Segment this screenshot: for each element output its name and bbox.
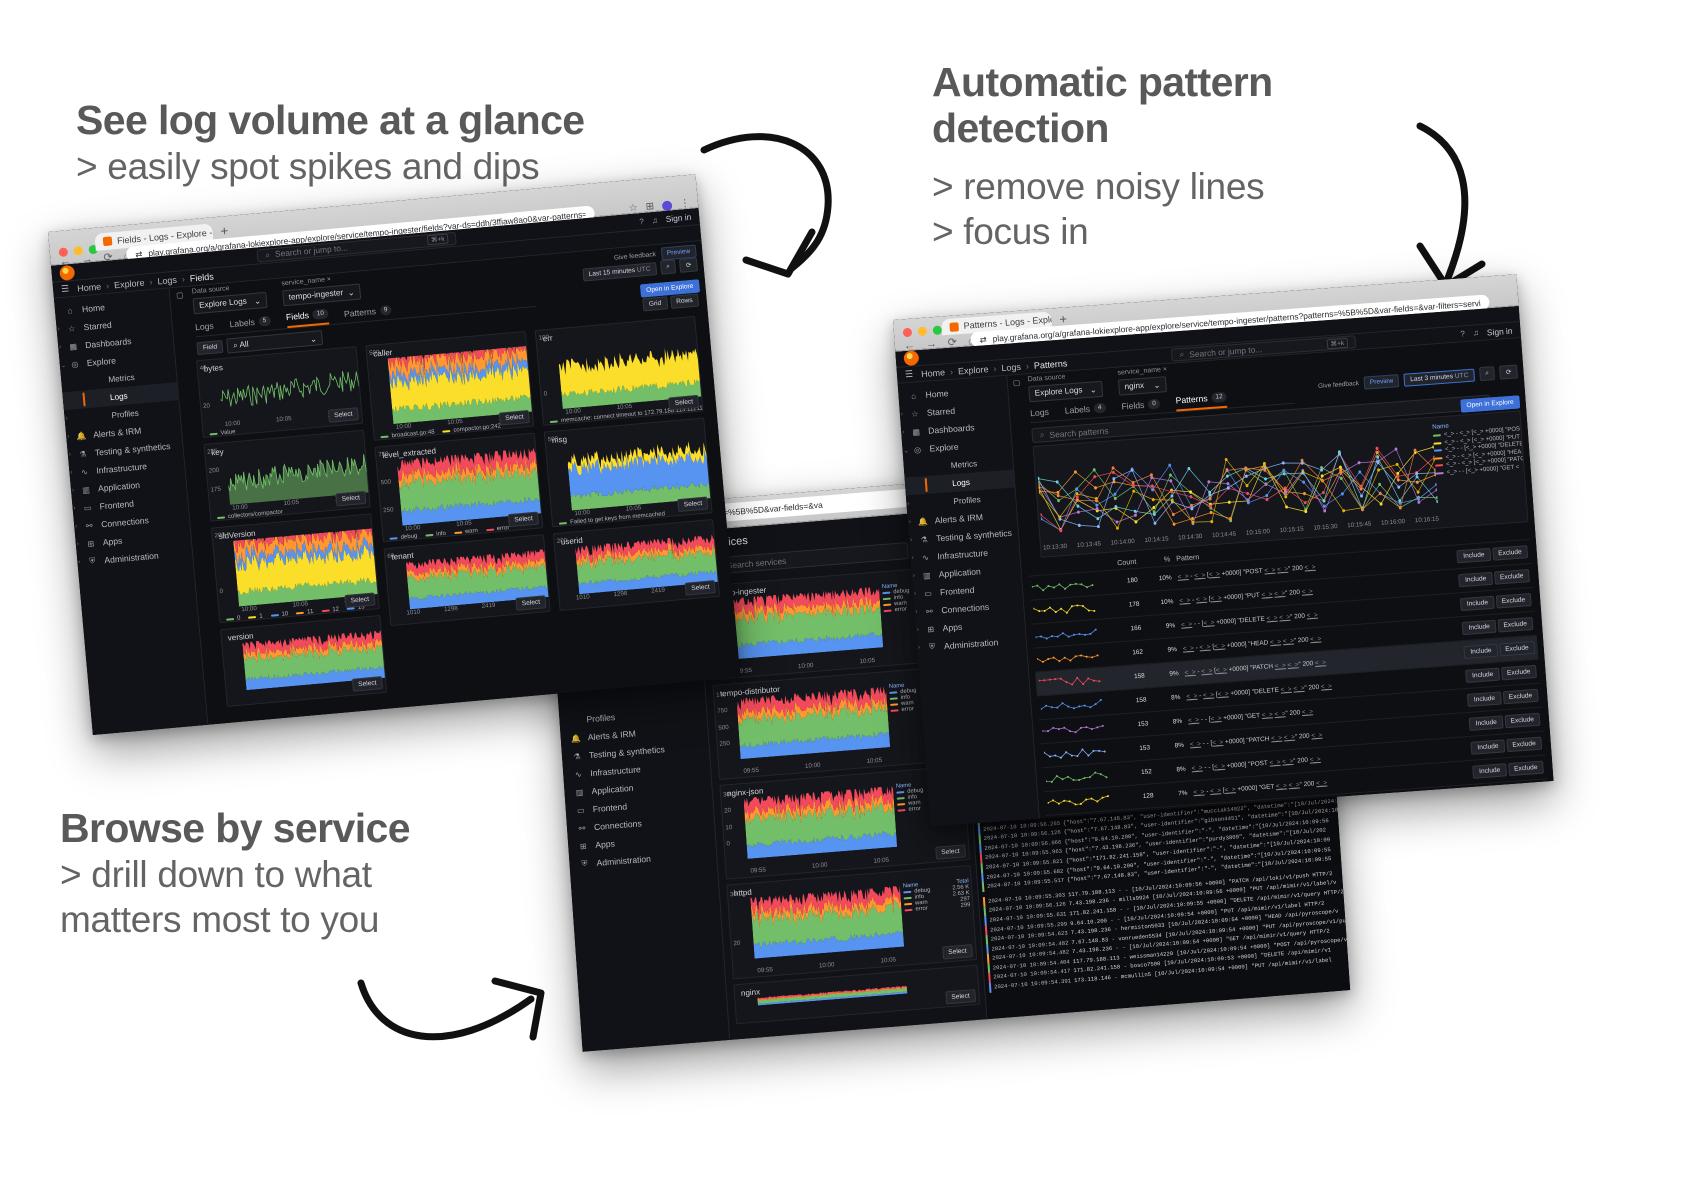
legend-swatch: [486, 529, 494, 532]
x-axis-tick: 2419: [481, 602, 495, 610]
sidebar-item-label: Home: [925, 388, 949, 400]
chevron-icon[interactable]: ⌄: [61, 361, 67, 368]
log-level-bar: [987, 954, 990, 964]
grafana-logo[interactable]: [903, 350, 919, 366]
row-count: 153: [1116, 712, 1152, 738]
sidebar-item-label: Frontend: [940, 585, 975, 597]
legend-swatch: [897, 797, 905, 800]
legend-label: warn: [465, 528, 478, 535]
legend-label: 12: [332, 607, 339, 614]
y-axis-tick: 20: [724, 807, 731, 815]
sidebar-item-label: Apps: [102, 536, 122, 548]
sidebar-item-label: Frontend: [592, 801, 627, 814]
exclude-button[interactable]: Exclude: [1506, 737, 1542, 753]
x-axis-tick: 10:13:30: [1043, 543, 1068, 556]
sidebar-item-label: Connections: [594, 818, 642, 832]
chevron-icon[interactable]: ›: [913, 573, 915, 579]
x-axis-tick: 10:15:45: [1347, 521, 1372, 534]
exclude-button[interactable]: Exclude: [1502, 689, 1538, 705]
legend-item[interactable]: 0: [226, 615, 241, 622]
x-axis-tick: 09:55: [750, 866, 766, 874]
time-range-picker[interactable]: Last 3 minutes UTC: [1404, 368, 1475, 386]
rows-view-toggle[interactable]: Rows: [670, 293, 700, 308]
chevron-down-icon: ⌄: [1153, 379, 1161, 389]
legend-swatch: [1435, 457, 1443, 460]
star-icon: ☆: [66, 323, 77, 334]
help-icon[interactable]: ?: [1460, 329, 1465, 338]
log-level-bar: [988, 964, 991, 974]
y-axis-tick: 750: [717, 707, 728, 715]
y-axis-tick: 0: [219, 588, 223, 595]
tab-logs[interactable]: Logs: [1030, 407, 1050, 422]
x-axis-tick: 10:00: [812, 861, 828, 869]
sidebar-item-label: Apps: [942, 622, 962, 633]
service-name-select[interactable]: tempo-ingester ⌄: [282, 283, 361, 306]
include-button[interactable]: Include: [1471, 739, 1505, 754]
sidebar-nav-list[interactable]: ⌂Home ›☆Starred ›▦Dashboards ⌄◎Explore M…: [898, 380, 1026, 657]
row-actions[interactable]: Include Exclude: [1473, 803, 1548, 816]
chevron-icon[interactable]: ›: [901, 412, 903, 418]
row-actions[interactable]: Include Exclude: [1471, 779, 1547, 809]
legend-item[interactable]: warn: [454, 528, 478, 536]
flask-icon: ⚗: [77, 448, 88, 459]
give-feedback-link[interactable]: Give feedback: [1318, 380, 1359, 390]
breadcrumb-item[interactable]: Explore: [958, 364, 989, 376]
breadcrumb-item[interactable]: Fields: [189, 271, 214, 283]
select-button[interactable]: Select: [499, 410, 530, 426]
log-level-bar: [985, 935, 988, 945]
chevron-icon[interactable]: ›: [57, 326, 60, 332]
callout-headline: See log volume at a glance: [76, 98, 584, 144]
legend-label: error: [915, 906, 928, 913]
zoom-out-icon[interactable]: ⌕: [660, 259, 677, 274]
exclude-button[interactable]: Exclude: [1511, 808, 1547, 816]
chevron-icon[interactable]: ›: [77, 542, 80, 548]
include-button[interactable]: Include: [1466, 668, 1500, 683]
exclude-button[interactable]: Exclude: [1492, 545, 1528, 561]
row-percent: 9%: [1145, 637, 1181, 663]
x-axis-tick: 10:05: [292, 600, 308, 608]
breadcrumb-item[interactable]: Logs: [157, 274, 177, 286]
panel-xaxis: 09:5510:0010:05: [757, 956, 896, 974]
exclude-button[interactable]: Exclude: [1508, 761, 1544, 777]
tab-count: 12: [1211, 392, 1227, 403]
row-percent: 8%: [1154, 757, 1190, 783]
bullet-icon: [935, 479, 946, 490]
sidebar-item-label: Alerts & IRM: [93, 426, 142, 440]
x-axis-tick: 10:15:00: [1246, 528, 1271, 541]
tab-logs[interactable]: Logs: [195, 321, 215, 337]
chevron-icon[interactable]: ›: [907, 501, 909, 507]
exclude-button[interactable]: Exclude: [1509, 785, 1545, 801]
x-axis-tick: 10:05: [873, 857, 889, 865]
search-shortcut-hint: ⌘+k: [427, 233, 450, 245]
select-button[interactable]: Select: [515, 595, 546, 611]
legend-label: 10: [281, 611, 288, 618]
bell-icon: 🔔: [570, 733, 581, 744]
stacked-area-chart: [729, 586, 883, 659]
exclude-button[interactable]: Exclude: [1501, 665, 1537, 681]
sidebar-item-label: Dashboards: [928, 422, 975, 435]
chevron-icon[interactable]: ›: [78, 559, 81, 565]
exclude-button[interactable]: Exclude: [1495, 593, 1531, 609]
datasource-select[interactable]: Explore Logs ⌄: [1028, 380, 1103, 401]
patterns-table-wrap[interactable]: Count%Pattern 180 10% <_> - <_> [<_> +00…: [1027, 526, 1547, 816]
sidebar-item-label: Profiles: [111, 408, 139, 419]
tab-label: Fields: [286, 310, 310, 322]
x-axis-tick: 10:00: [565, 407, 581, 415]
legend-label: error: [496, 525, 509, 532]
new-tab-button[interactable]: +: [220, 223, 229, 239]
sidebar-item-label: Testing & synthetics: [936, 528, 1012, 544]
x-axis-tick: 09:55: [743, 767, 759, 775]
breadcrumb-item[interactable]: Patterns: [1033, 358, 1067, 370]
hamburger-menu-icon[interactable]: ☰: [61, 283, 70, 295]
callout-subline: > drill down to what: [60, 852, 410, 897]
include-button[interactable]: Include: [1476, 811, 1510, 816]
legend-swatch: [442, 430, 450, 433]
sidebar-item-label: Alerts & IRM: [934, 512, 983, 526]
x-axis-tick: 10:16:15: [1415, 516, 1440, 529]
exclude-button[interactable]: Exclude: [1504, 713, 1540, 729]
sidebar-item-label: Starred: [927, 406, 956, 418]
include-button[interactable]: Include: [1464, 644, 1498, 659]
close-icon[interactable]: [903, 328, 913, 338]
legend-item[interactable]: 10: [270, 611, 288, 619]
legend-swatch: [905, 909, 913, 912]
callout-browse-by-service: Browse by service > drill down to what m…: [60, 806, 410, 942]
include-button[interactable]: Include: [1459, 572, 1493, 587]
legend-item[interactable]: 1: [248, 613, 263, 620]
select-button[interactable]: Select: [328, 407, 359, 423]
remove-filter-icon[interactable]: ×: [1163, 366, 1168, 373]
bullet-icon: [94, 411, 105, 422]
x-axis-tick: 10:05: [276, 415, 292, 423]
service-name-label: service_name ×: [1117, 366, 1167, 377]
news-icon[interactable]: ♫: [651, 215, 658, 224]
include-button[interactable]: Include: [1469, 715, 1503, 730]
datasource-value: Explore Logs: [199, 297, 247, 310]
log-level-bar: [984, 916, 987, 926]
legend-label: flush.go:253: [392, 440, 425, 441]
sidebar-item-label: Apps: [595, 838, 615, 850]
field-panel-version: version Select: [220, 615, 387, 707]
legend-item[interactable]: flush.go:253: [381, 440, 425, 441]
breadcrumb-separator: ›: [106, 280, 110, 290]
give-feedback-link[interactable]: Give feedback: [614, 251, 657, 262]
include-button[interactable]: Include: [1474, 787, 1508, 802]
home-icon: ⌂: [65, 305, 76, 316]
include-button[interactable]: Include: [1457, 548, 1491, 563]
chevron-icon[interactable]: ›: [73, 506, 76, 512]
legend-label: Value: [220, 429, 235, 436]
help-icon[interactable]: ?: [639, 217, 644, 226]
chevron-icon[interactable]: ›: [917, 627, 919, 633]
tab-fields[interactable]: Fields10: [286, 308, 329, 328]
datasource-value: Explore Logs: [1034, 385, 1082, 397]
breadcrumb-separator: ›: [181, 274, 185, 284]
legend-item[interactable]: error: [486, 525, 510, 533]
chevron-icon[interactable]: ⌄: [903, 447, 909, 454]
legend-swatch: [896, 791, 904, 794]
site-info-icon[interactable]: ⇄: [979, 334, 987, 344]
sidebar-nav-list[interactable]: ⌂Home ›☆Starred ›▦Dashboards ⌄◎Explore M…: [54, 292, 193, 571]
field-panel-userid: userid 200 1010129824192919 Select: [553, 519, 720, 611]
minimize-icon[interactable]: [918, 327, 928, 337]
service-name-value: tempo-ingester: [288, 288, 343, 302]
collapse-sidebar-icon[interactable]: ▢: [1013, 378, 1021, 388]
apps-icon: ▥: [574, 787, 585, 798]
select-button[interactable]: Select: [508, 512, 539, 528]
refresh-icon[interactable]: ⟳: [679, 257, 698, 273]
tab-label: Labels: [1064, 404, 1090, 416]
chevron-icon[interactable]: ›: [70, 470, 73, 476]
heartbeat-icon: ∿: [79, 466, 90, 477]
legend-item[interactable]: debug: [390, 533, 418, 541]
include-button[interactable]: Include: [1462, 620, 1496, 635]
legend-swatch: [425, 534, 433, 537]
exclude-button[interactable]: Exclude: [1494, 569, 1530, 585]
exclude-button[interactable]: Exclude: [1497, 617, 1533, 633]
tab-labels[interactable]: Labels4: [1064, 403, 1106, 420]
sidebar-item-label: Testing & synthetics: [589, 744, 665, 760]
breadcrumb-item[interactable]: Home: [921, 367, 946, 379]
field-panel-bytes: bytes 4020 10:0010:0510:1 Value Select: [196, 346, 363, 438]
select-button[interactable]: Select: [668, 395, 699, 411]
sidebar-item-label: Application: [98, 480, 141, 494]
breadcrumb-separator: ›: [1025, 361, 1029, 371]
callout-subline: matters most to you: [60, 897, 410, 942]
grid-view-toggle[interactable]: Grid: [642, 296, 668, 311]
grid-icon: ⊞: [85, 538, 96, 549]
chevron-down-icon: ⌄: [347, 287, 355, 298]
select-button[interactable]: Select: [335, 491, 366, 507]
legend-item[interactable]: broadcast.go:48: [380, 429, 434, 440]
select-button[interactable]: Select: [942, 944, 973, 959]
chevron-icon[interactable]: ›: [918, 645, 920, 651]
chevron-icon[interactable]: ›: [67, 434, 70, 440]
extensions-icon[interactable]: ⊞: [645, 201, 654, 213]
collapse-sidebar-icon[interactable]: ▢: [176, 290, 184, 300]
select-button[interactable]: Select: [677, 496, 708, 512]
callout-subline: > remove noisy lines: [932, 164, 1362, 209]
compass-icon: ◎: [912, 444, 923, 455]
chevron-icon[interactable]: ›: [65, 416, 68, 422]
y-axis-tick: 40: [199, 364, 206, 372]
sidebar-item-label: Dashboards: [85, 336, 132, 350]
log-level-bar: [988, 973, 991, 983]
zoom-out-icon[interactable]: ⌕: [1479, 366, 1496, 381]
legend-swatch: [898, 809, 906, 812]
tab-count: 5: [258, 316, 270, 327]
panel-legend[interactable]: NameTotal debug 2.56 K info 2.63 K warn …: [903, 878, 971, 913]
row-count: 166: [1109, 616, 1145, 642]
row-percent: 10%: [1142, 590, 1178, 616]
field-filter-value: All: [239, 339, 249, 349]
row-percent: 8%: [1150, 709, 1186, 735]
sidebar-item-label: Alerts & IRM: [587, 728, 636, 742]
field-panel-key: key 225200175 10:0010:0510:1 collectors/…: [203, 430, 370, 522]
monitor-icon: ▭: [575, 805, 586, 816]
star-icon: ☆: [910, 408, 921, 419]
tab-label: Patterns: [1175, 393, 1208, 405]
sidebar-nav-list[interactable]: Profiles 🔔Alerts & IRM ⚗Testing & synthe…: [559, 701, 717, 874]
legend-swatch: [296, 612, 304, 615]
x-axis-tick: 10:00: [225, 420, 241, 428]
sidebar-item-label: Starred: [83, 320, 112, 332]
chevron-icon[interactable]: ›: [910, 537, 912, 543]
window-traffic-lights[interactable]: [903, 325, 943, 337]
breadcrumb-item[interactable]: Logs: [1001, 361, 1021, 372]
chevron-icon[interactable]: ›: [902, 429, 904, 435]
breadcrumb-separator: ›: [149, 276, 153, 286]
flask-icon: ⚗: [919, 534, 930, 545]
monitor-icon: ▭: [82, 502, 93, 513]
y-axis-tick: 250: [719, 740, 730, 748]
service-name-select[interactable]: nginx ⌄: [1118, 376, 1167, 395]
tab-patterns[interactable]: Patterns12: [1175, 392, 1227, 412]
exclude-button[interactable]: Exclude: [1499, 641, 1535, 657]
profile-avatar[interactable]: [662, 200, 673, 211]
y-axis-tick: 500: [380, 479, 391, 487]
select-button[interactable]: Select: [945, 989, 976, 1004]
callout-headline: Browse by service: [60, 806, 410, 852]
legend-item[interactable]: Value: [209, 429, 235, 437]
shield-icon: ⛨: [579, 859, 590, 870]
legend-item[interactable]: info: [425, 531, 446, 539]
legend-swatch: [882, 592, 890, 595]
bookmark-star-icon[interactable]: ☆: [628, 202, 638, 214]
curved-arrow-to-services-window: [355, 955, 560, 1065]
remove-filter-icon[interactable]: ×: [327, 276, 332, 283]
select-button[interactable]: Select: [344, 592, 375, 608]
sidebar-item-label: Explore: [929, 442, 959, 454]
heartbeat-icon: ∿: [920, 552, 931, 563]
legend-total: 299: [961, 902, 971, 909]
search-patterns-placeholder: Search patterns: [1049, 425, 1109, 439]
plug-icon: ⚯: [577, 823, 588, 834]
legend-label: debug: [400, 533, 417, 540]
row-percent: 7%: [1156, 781, 1192, 807]
include-button[interactable]: Include: [1467, 691, 1501, 706]
y-axis-tick: 750: [378, 451, 389, 459]
x-axis-tick: 10:00: [396, 422, 412, 430]
log-level-bar: [978, 834, 981, 844]
callout-subline: > easily spot spikes and dips: [76, 144, 584, 189]
select-button[interactable]: Select: [935, 844, 966, 859]
tab-label: Logs: [1030, 407, 1049, 418]
patterns-table-body[interactable]: 180 10% <_> - <_> [<_> +0000] "POST <_> …: [1028, 539, 1547, 816]
chevron-icon[interactable]: ›: [914, 591, 916, 597]
flask-icon: ⚗: [572, 751, 583, 762]
breadcrumb-separator: ›: [950, 366, 954, 376]
log-level-bar: [989, 983, 992, 993]
field-panel-err: err 1000 10:0010:0510:1 memcache: connec…: [535, 316, 704, 426]
sign-in-button[interactable]: Sign in: [1487, 325, 1513, 337]
bell-icon: 🔔: [76, 430, 87, 441]
chevron-icon[interactable]: ›: [911, 555, 913, 561]
plug-icon: ⚯: [924, 606, 935, 617]
chevron-icon[interactable]: ›: [69, 452, 72, 458]
legend-label: error: [901, 706, 914, 713]
news-icon[interactable]: ♫: [1473, 328, 1480, 337]
callout-headline: Automatic pattern detection: [932, 60, 1362, 152]
include-button[interactable]: Include: [1473, 763, 1507, 778]
select-button[interactable]: Select: [352, 676, 383, 692]
legend-swatch: [550, 420, 558, 423]
x-axis-tick: 09:55: [757, 966, 773, 974]
log-level-bar: [986, 945, 989, 955]
tab-labels[interactable]: Labels5: [229, 316, 271, 334]
chevron-icon[interactable]: ›: [915, 609, 917, 615]
row-count: 180: [1106, 568, 1142, 594]
sidebar-item-label: Frontend: [99, 498, 134, 511]
dashboard-icon: ▦: [68, 341, 79, 352]
legend-label: 1: [259, 613, 263, 619]
refresh-icon[interactable]: ⟳: [1499, 364, 1518, 379]
y-axis-tick: 10: [725, 824, 732, 832]
y-axis-tick: 60: [387, 553, 394, 561]
chevron-icon[interactable]: ›: [75, 524, 78, 530]
sidebar-item-label: Logs: [110, 391, 128, 402]
chevron-icon[interactable]: ›: [72, 488, 75, 494]
x-axis-tick: 10:15:30: [1313, 523, 1338, 536]
log-level-bar: [981, 873, 984, 883]
breadcrumb-item[interactable]: Explore: [114, 277, 145, 290]
hamburger-menu-icon[interactable]: ☰: [905, 369, 914, 381]
panel-plot: [750, 886, 904, 959]
x-axis-tick: 10:05: [447, 418, 463, 426]
x-axis-tick: 10:00: [574, 509, 590, 517]
select-button[interactable]: Select: [685, 580, 716, 596]
chevron-icon[interactable]: ›: [59, 344, 62, 350]
x-axis-tick: 10:05: [859, 657, 875, 665]
legend-label: error: [908, 806, 921, 813]
tab-count: 9: [379, 305, 391, 316]
sidebar-item-label: Home: [82, 302, 106, 314]
datasource-select[interactable]: Explore Logs ⌄: [192, 291, 267, 314]
time-range-value: Last 15 minutes: [588, 266, 635, 277]
breadcrumb-item[interactable]: Home: [77, 281, 102, 293]
browser-window-fields: Fields - Logs - Explore - Gra × + ← → ⟳ …: [48, 174, 740, 735]
grafana-logo[interactable]: [59, 264, 75, 280]
include-button[interactable]: Include: [1460, 596, 1494, 611]
fields-panel-grid: bytes 4020 10:0010:0510:1 Value Select k…: [196, 315, 734, 721]
x-axis-tick: 1298: [613, 590, 627, 598]
log-level-bar: [983, 906, 986, 916]
tab-fields[interactable]: Fields0: [1121, 399, 1160, 416]
tab-patterns[interactable]: Patterns9: [344, 305, 393, 323]
legend-item[interactable]: 12: [321, 607, 339, 615]
legend-item[interactable]: 11: [296, 609, 314, 617]
legend-swatch: [1433, 434, 1441, 437]
tab-count: 0: [1148, 399, 1160, 410]
search-icon: ⌕: [1179, 349, 1184, 360]
patterns-table[interactable]: Count%Pattern 180 10% <_> - <_> [<_> +00…: [1027, 526, 1547, 816]
tab-count: 4: [1094, 403, 1106, 414]
legend-swatch: [889, 691, 897, 694]
home-icon: ⌂: [908, 390, 919, 401]
compass-icon: ◎: [69, 359, 80, 370]
x-axis-tick: 10:00: [405, 524, 421, 532]
chevron-down-icon: ⌄: [254, 295, 262, 306]
legend-swatch: [1436, 472, 1444, 475]
sign-in-button[interactable]: Sign in: [665, 212, 691, 224]
sidebar-item-label: Connections: [941, 602, 989, 615]
chevron-icon[interactable]: ›: [909, 519, 911, 525]
patterns-chart-legend[interactable]: Name<_> - <_> [<_> +0000] "POS<_> - <_> …: [1432, 418, 1522, 478]
x-axis-tick: 10:05: [866, 757, 882, 765]
